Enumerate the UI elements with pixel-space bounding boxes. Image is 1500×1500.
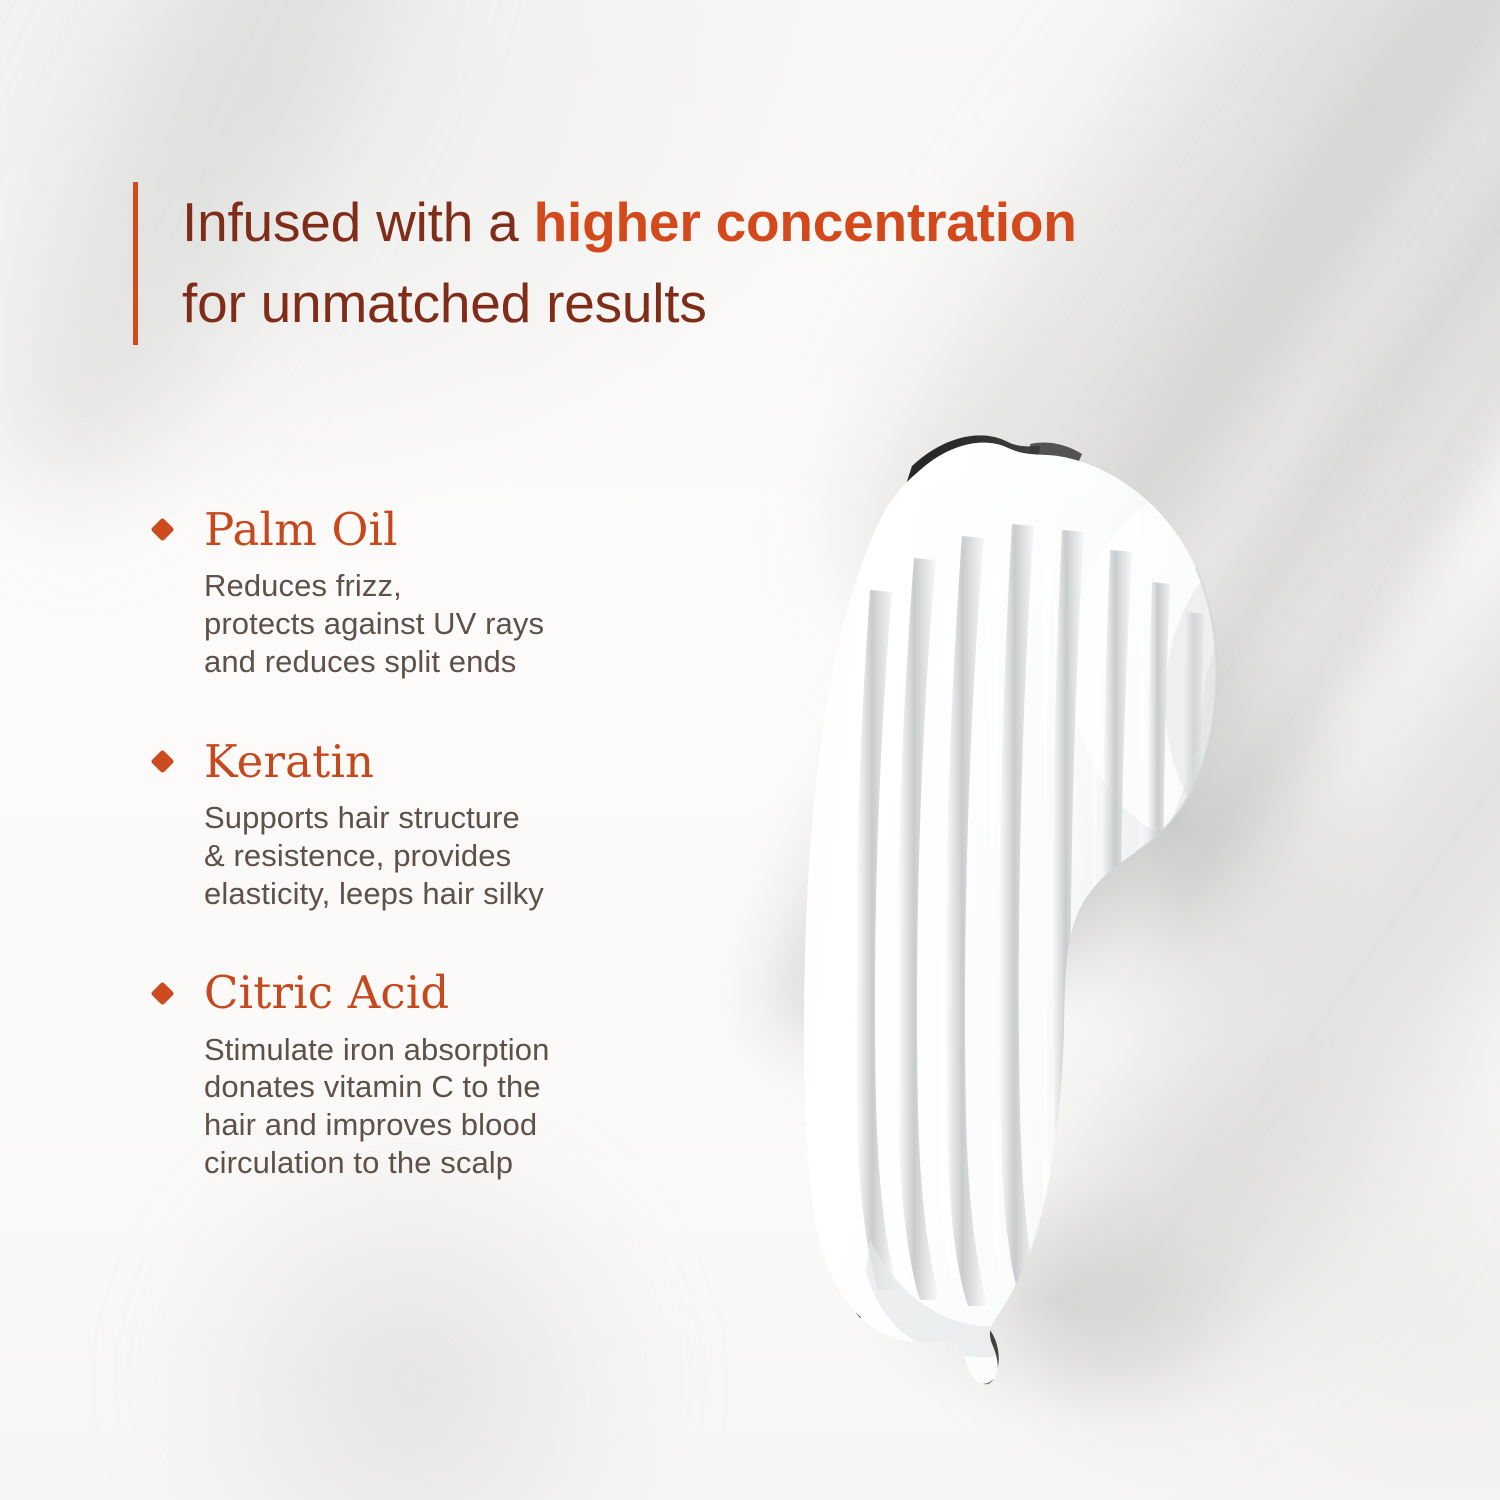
ingredient-description: Stimulate iron absorption donates vitami… xyxy=(204,1031,671,1182)
headline-line-1-emphasis: higher concentration xyxy=(534,191,1077,253)
ingredient-heading: Palm Oil xyxy=(151,506,671,553)
ingredient-description: Reduces frizz, protects against UV rays … xyxy=(204,567,671,680)
ingredient-title: Keratin xyxy=(204,738,374,785)
headline-line-2: for unmatched results xyxy=(182,263,1077,344)
ingredient-heading: Keratin xyxy=(151,738,671,785)
cream-swatch-illustration xyxy=(700,400,1380,1450)
ingredient-list: Palm Oil Reduces frizz, protects against… xyxy=(151,506,671,1182)
diamond-bullet-icon xyxy=(150,749,174,773)
headline-line-1-plain: Infused with a xyxy=(182,191,534,253)
ingredient-title: Citric Acid xyxy=(204,969,449,1016)
ingredient-title: Palm Oil xyxy=(204,506,398,553)
accent-bar xyxy=(133,182,138,345)
ingredient-heading: Citric Acid xyxy=(151,969,671,1016)
cream-swatch-image xyxy=(700,400,1380,1450)
ingredient-description: Supports hair structure & resistence, pr… xyxy=(204,799,671,912)
diamond-bullet-icon xyxy=(150,518,174,542)
product-infographic: Infused with a higher concentration for … xyxy=(0,0,1500,1500)
list-item: Citric Acid Stimulate iron absorption do… xyxy=(151,969,671,1182)
list-item: Palm Oil Reduces frizz, protects against… xyxy=(151,506,671,681)
headline-block: Infused with a higher concentration for … xyxy=(133,182,1077,345)
headline-line-1: Infused with a higher concentration xyxy=(182,182,1077,263)
list-item: Keratin Supports hair structure & resist… xyxy=(151,738,671,913)
diamond-bullet-icon xyxy=(150,981,174,1005)
page-title: Infused with a higher concentration for … xyxy=(182,182,1077,345)
